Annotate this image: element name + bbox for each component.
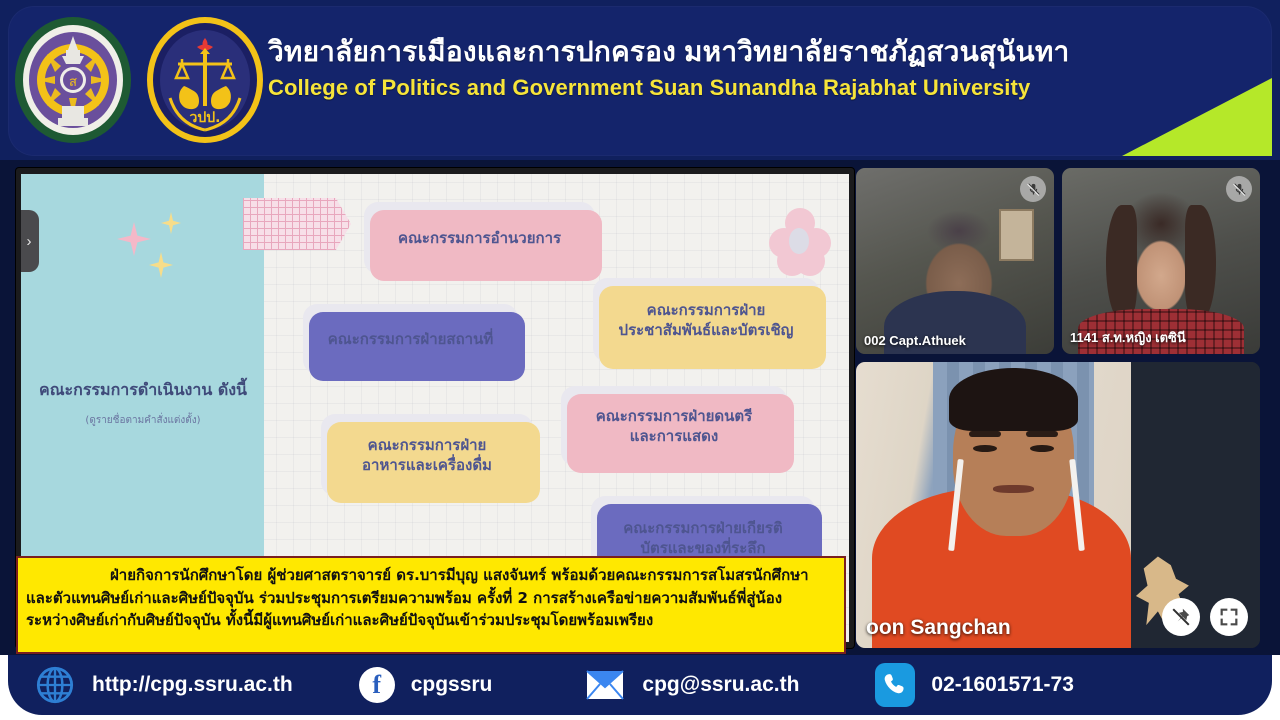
background-picture-frame xyxy=(999,209,1035,261)
page-header: ส xyxy=(0,0,1280,160)
header-logos: ส xyxy=(10,14,268,146)
phone-icon xyxy=(875,663,915,707)
slide-node-venue: คณะกรรมการฝ่ายสถานที่ xyxy=(303,304,518,374)
caption-box: ฝ่ายกิจการนักศึกษาโดย ผู้ช่วยศาสตราจารย์… xyxy=(16,556,846,654)
page-footer: http://cpg.ssru.ac.th f cpgssru cpg@ssru… xyxy=(0,655,1280,720)
svg-text:ส: ส xyxy=(69,75,77,90)
meeting-area: คณะกรรมการดำเนินงาน ดังนี้ (ดูรายชื่อตาม… xyxy=(0,160,1280,655)
footer-plate: http://cpg.ssru.ac.th f cpgssru cpg@ssru… xyxy=(8,655,1272,715)
college-of-politics-and-government-seal-icon: วปป. xyxy=(142,14,268,146)
broadcast-screen: ส xyxy=(0,0,1280,720)
footer-facebook[interactable]: f cpgssru xyxy=(359,667,493,703)
slide-node-label: คณะกรรมการฝ่ายดนตรี และการแสดง xyxy=(596,406,752,447)
slide-left-heading: คณะกรรมการดำเนินงาน ดังนี้ xyxy=(29,379,257,401)
footer-phone-label: 02-1601571-73 xyxy=(931,673,1073,697)
footer-facebook-label: cpgssru xyxy=(411,673,493,697)
flower-decoration xyxy=(769,208,831,270)
mic-off-icon[interactable] xyxy=(1020,176,1046,202)
participant-name-2: 1141 ส.ท.หญิง เตซินี xyxy=(1070,327,1186,348)
slide-node-label: คณะกรรมการฝ่ายสถานที่ xyxy=(328,329,493,349)
suan-sunandha-rajabhat-university-seal-icon: ส xyxy=(10,14,136,146)
slide-node-label: คณะกรรมการฝ่าย ประชาสัมพันธ์และบัตรเชิญ xyxy=(619,300,794,341)
page-title-thai: วิทยาลัยการเมืองและการปกครอง มหาวิทยาลัย… xyxy=(268,34,1168,69)
caption-line-3: ระหว่างศิษย์เก่ากับศิษย์ปัจจุบัน ทั้งนี้… xyxy=(26,609,836,632)
slide-node-music-and-performance: คณะกรรมการฝ่ายดนตรี และการแสดง xyxy=(561,386,787,466)
participant-tile-1[interactable]: 002 Capt.Athuek xyxy=(856,168,1054,354)
participant-mouth xyxy=(993,485,1033,493)
slide-node-label: คณะกรรมการฝ่าย อาหารและเครื่องดื่ม xyxy=(362,435,492,476)
participant-name-main: oon Sangchan xyxy=(866,616,1011,640)
participant-brow-right xyxy=(1026,431,1058,438)
participant-tile-2[interactable]: 1141 ส.ท.หญิง เตซินี xyxy=(1062,168,1260,354)
footer-website[interactable]: http://cpg.ssru.ac.th xyxy=(34,664,293,706)
participant-tile-main[interactable]: oon Sangchan xyxy=(856,362,1260,648)
grid-arrow-decoration xyxy=(243,198,351,250)
header-title-block: วิทยาลัยการเมืองและการปกครอง มหาวิทยาลัย… xyxy=(268,34,1168,103)
unpin-icon[interactable] xyxy=(1162,598,1200,636)
slide-node-directing-committee: คณะกรรมการอำนวยการ xyxy=(364,202,595,274)
participant-hair xyxy=(949,368,1078,431)
seal-abbreviation: วปป. xyxy=(190,110,221,126)
footer-website-label: http://cpg.ssru.ac.th xyxy=(92,673,293,697)
footer-email[interactable]: cpg@ssru.ac.th xyxy=(584,664,799,706)
participant-tiles: 002 Capt.Athuek 1141 xyxy=(856,168,1266,648)
slide-node-label: คณะกรรมการอำนวยการ xyxy=(398,228,561,248)
participant-brow-left xyxy=(969,431,1001,438)
footer-phone[interactable]: 02-1601571-73 xyxy=(875,663,1073,707)
caption-line-1: ฝ่ายกิจการนักศึกษาโดย ผู้ช่วยศาสตราจารย์… xyxy=(26,564,836,587)
facebook-icon: f xyxy=(359,667,395,703)
participant-name-1: 002 Capt.Athuek xyxy=(864,333,966,348)
slide-node-label: คณะกรรมการฝ่ายเกียรติ บัตรและของที่ระลึก xyxy=(623,518,782,559)
slide-node-food-and-beverage: คณะกรรมการฝ่าย อาหารและเครื่องดื่ม xyxy=(321,414,533,496)
participant-hair-right xyxy=(1185,205,1217,320)
chevron-right-icon[interactable]: › xyxy=(21,210,39,272)
caption-line-2: และตัวแทนศิษย์เก่าและศิษย์ปัจจุบัน ร่วมป… xyxy=(26,587,836,610)
mic-off-icon[interactable] xyxy=(1226,176,1252,202)
slide-left-subheading: (ดูรายชื่อตามคำสั่งแต่งตั้ง) xyxy=(29,414,257,427)
participant-hair-left xyxy=(1106,205,1138,320)
page-title-english: College of Politics and Government Suan … xyxy=(268,74,1168,103)
globe-icon xyxy=(34,664,76,706)
fullscreen-icon[interactable] xyxy=(1210,598,1248,636)
participant-video-main xyxy=(856,362,1260,648)
slide-node-pr-and-invitations: คณะกรรมการฝ่าย ประชาสัมพันธ์และบัตรเชิญ xyxy=(593,278,819,362)
email-icon xyxy=(584,664,626,706)
footer-email-label: cpg@ssru.ac.th xyxy=(642,673,799,697)
